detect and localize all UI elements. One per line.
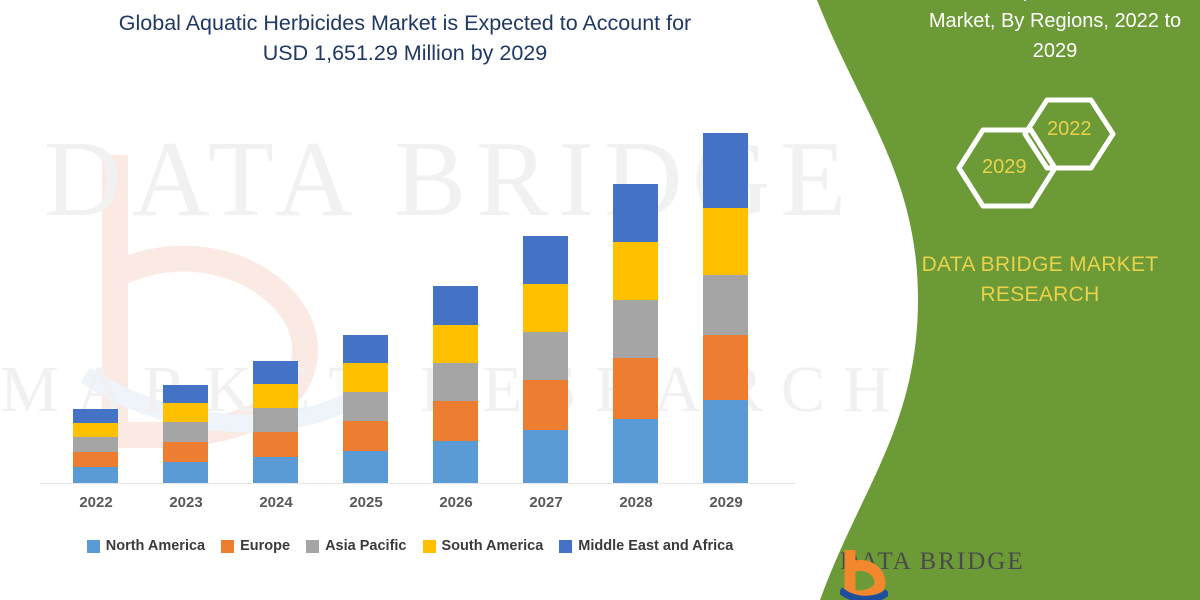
bar-segment (163, 385, 208, 403)
chart-legend: North AmericaEuropeAsia PacificSouth Ame… (0, 538, 820, 554)
bar-segment (343, 421, 388, 451)
bar-segment (73, 467, 118, 483)
legend-item-south-america[interactable]: South America (423, 538, 544, 554)
bar-segment (523, 284, 568, 332)
bar-segment (433, 286, 478, 325)
branding-panel: Global Aquatic Herbicides Market, By Reg… (760, 0, 1200, 600)
brand-line-2: RESEARCH (890, 280, 1190, 310)
legend-item-asia-pacific[interactable]: Asia Pacific (306, 538, 406, 554)
bar-segment (433, 401, 478, 441)
panel-title: Global Aquatic Herbicides Market, By Reg… (920, 0, 1190, 66)
brand-line-1: DATA BRIDGE MARKET (890, 250, 1190, 280)
panel-title-line-2: 2029 (920, 36, 1190, 66)
bar-segment (163, 403, 208, 422)
bar-segment (253, 457, 298, 483)
bar-2028 (613, 184, 658, 483)
bar-segment (343, 451, 388, 483)
legend-item-middle-east-and-africa[interactable]: Middle East and Africa (559, 538, 733, 554)
legend-item-label: Europe (240, 538, 290, 554)
data-bridge-logo-icon (840, 548, 888, 600)
hexagon-label-2029: 2029 (982, 156, 1027, 179)
footer-logo: DATA BRIDGE (840, 548, 1025, 576)
x-tick-2027: 2027 (501, 494, 591, 511)
legend-swatch-icon (423, 540, 436, 553)
bar-segment (73, 452, 118, 467)
legend-item-label: South America (442, 538, 544, 554)
bar-segment (523, 332, 568, 380)
brand-name: DATA BRIDGE MARKET RESEARCH (890, 250, 1190, 310)
legend-item-label: Middle East and Africa (578, 538, 733, 554)
infographic-canvas: DATA BRIDGE MARKET RESEARCH Global Aquat… (0, 0, 1200, 600)
legend-item-north-america[interactable]: North America (87, 538, 205, 554)
bar-segment (613, 358, 658, 419)
bar-segment (703, 208, 748, 275)
bar-2027 (523, 236, 568, 483)
bar-2022 (73, 409, 118, 483)
bar-2025 (343, 335, 388, 483)
chart-plot-area: 20222023202420252026202720282029 (0, 0, 820, 600)
bar-segment (253, 361, 298, 384)
bar-segment (343, 392, 388, 421)
legend-item-label: Asia Pacific (325, 538, 406, 554)
bar-segment (343, 335, 388, 363)
bar-segment (703, 133, 748, 208)
bar-segment (253, 408, 298, 432)
bar-segment (523, 430, 568, 483)
bar-2026 (433, 286, 478, 483)
bar-2023 (163, 385, 208, 483)
bar-segment (703, 400, 748, 483)
bar-segment (253, 384, 298, 408)
legend-item-label: North America (106, 538, 205, 554)
bar-segment (703, 275, 748, 335)
legend-swatch-icon (559, 540, 572, 553)
bar-segment (613, 300, 658, 358)
bar-segment (343, 363, 388, 392)
bar-2029 (703, 133, 748, 483)
legend-item-europe[interactable]: Europe (221, 538, 290, 554)
bar-segment (73, 409, 118, 423)
bar-segment (433, 363, 478, 401)
bar-segment (253, 432, 298, 457)
bar-segment (163, 462, 208, 483)
bar-segment (613, 419, 658, 483)
bar-segment (613, 242, 658, 300)
bar-segment (73, 437, 118, 452)
bar-segment (523, 236, 568, 284)
x-tick-2028: 2028 (591, 494, 681, 511)
bar-segment (433, 441, 478, 483)
x-tick-2022: 2022 (51, 494, 141, 511)
bar-segment (703, 335, 748, 400)
legend-swatch-icon (306, 540, 319, 553)
x-tick-2025: 2025 (321, 494, 411, 511)
hexagon-label-2022: 2022 (1047, 118, 1092, 141)
bar-segment (433, 325, 478, 363)
x-axis-line (40, 483, 795, 484)
legend-swatch-icon (221, 540, 234, 553)
bar-segment (523, 380, 568, 430)
x-tick-2024: 2024 (231, 494, 321, 511)
bar-2024 (253, 361, 298, 483)
bar-segment (613, 184, 658, 242)
bar-segment (73, 423, 118, 437)
bar-segment (163, 422, 208, 442)
bar-segment (163, 442, 208, 462)
legend-swatch-icon (87, 540, 100, 553)
x-tick-2023: 2023 (141, 494, 231, 511)
x-tick-2026: 2026 (411, 494, 501, 511)
panel-title-line-1: Market, By Regions, 2022 to (920, 6, 1190, 36)
x-tick-2029: 2029 (681, 494, 771, 511)
